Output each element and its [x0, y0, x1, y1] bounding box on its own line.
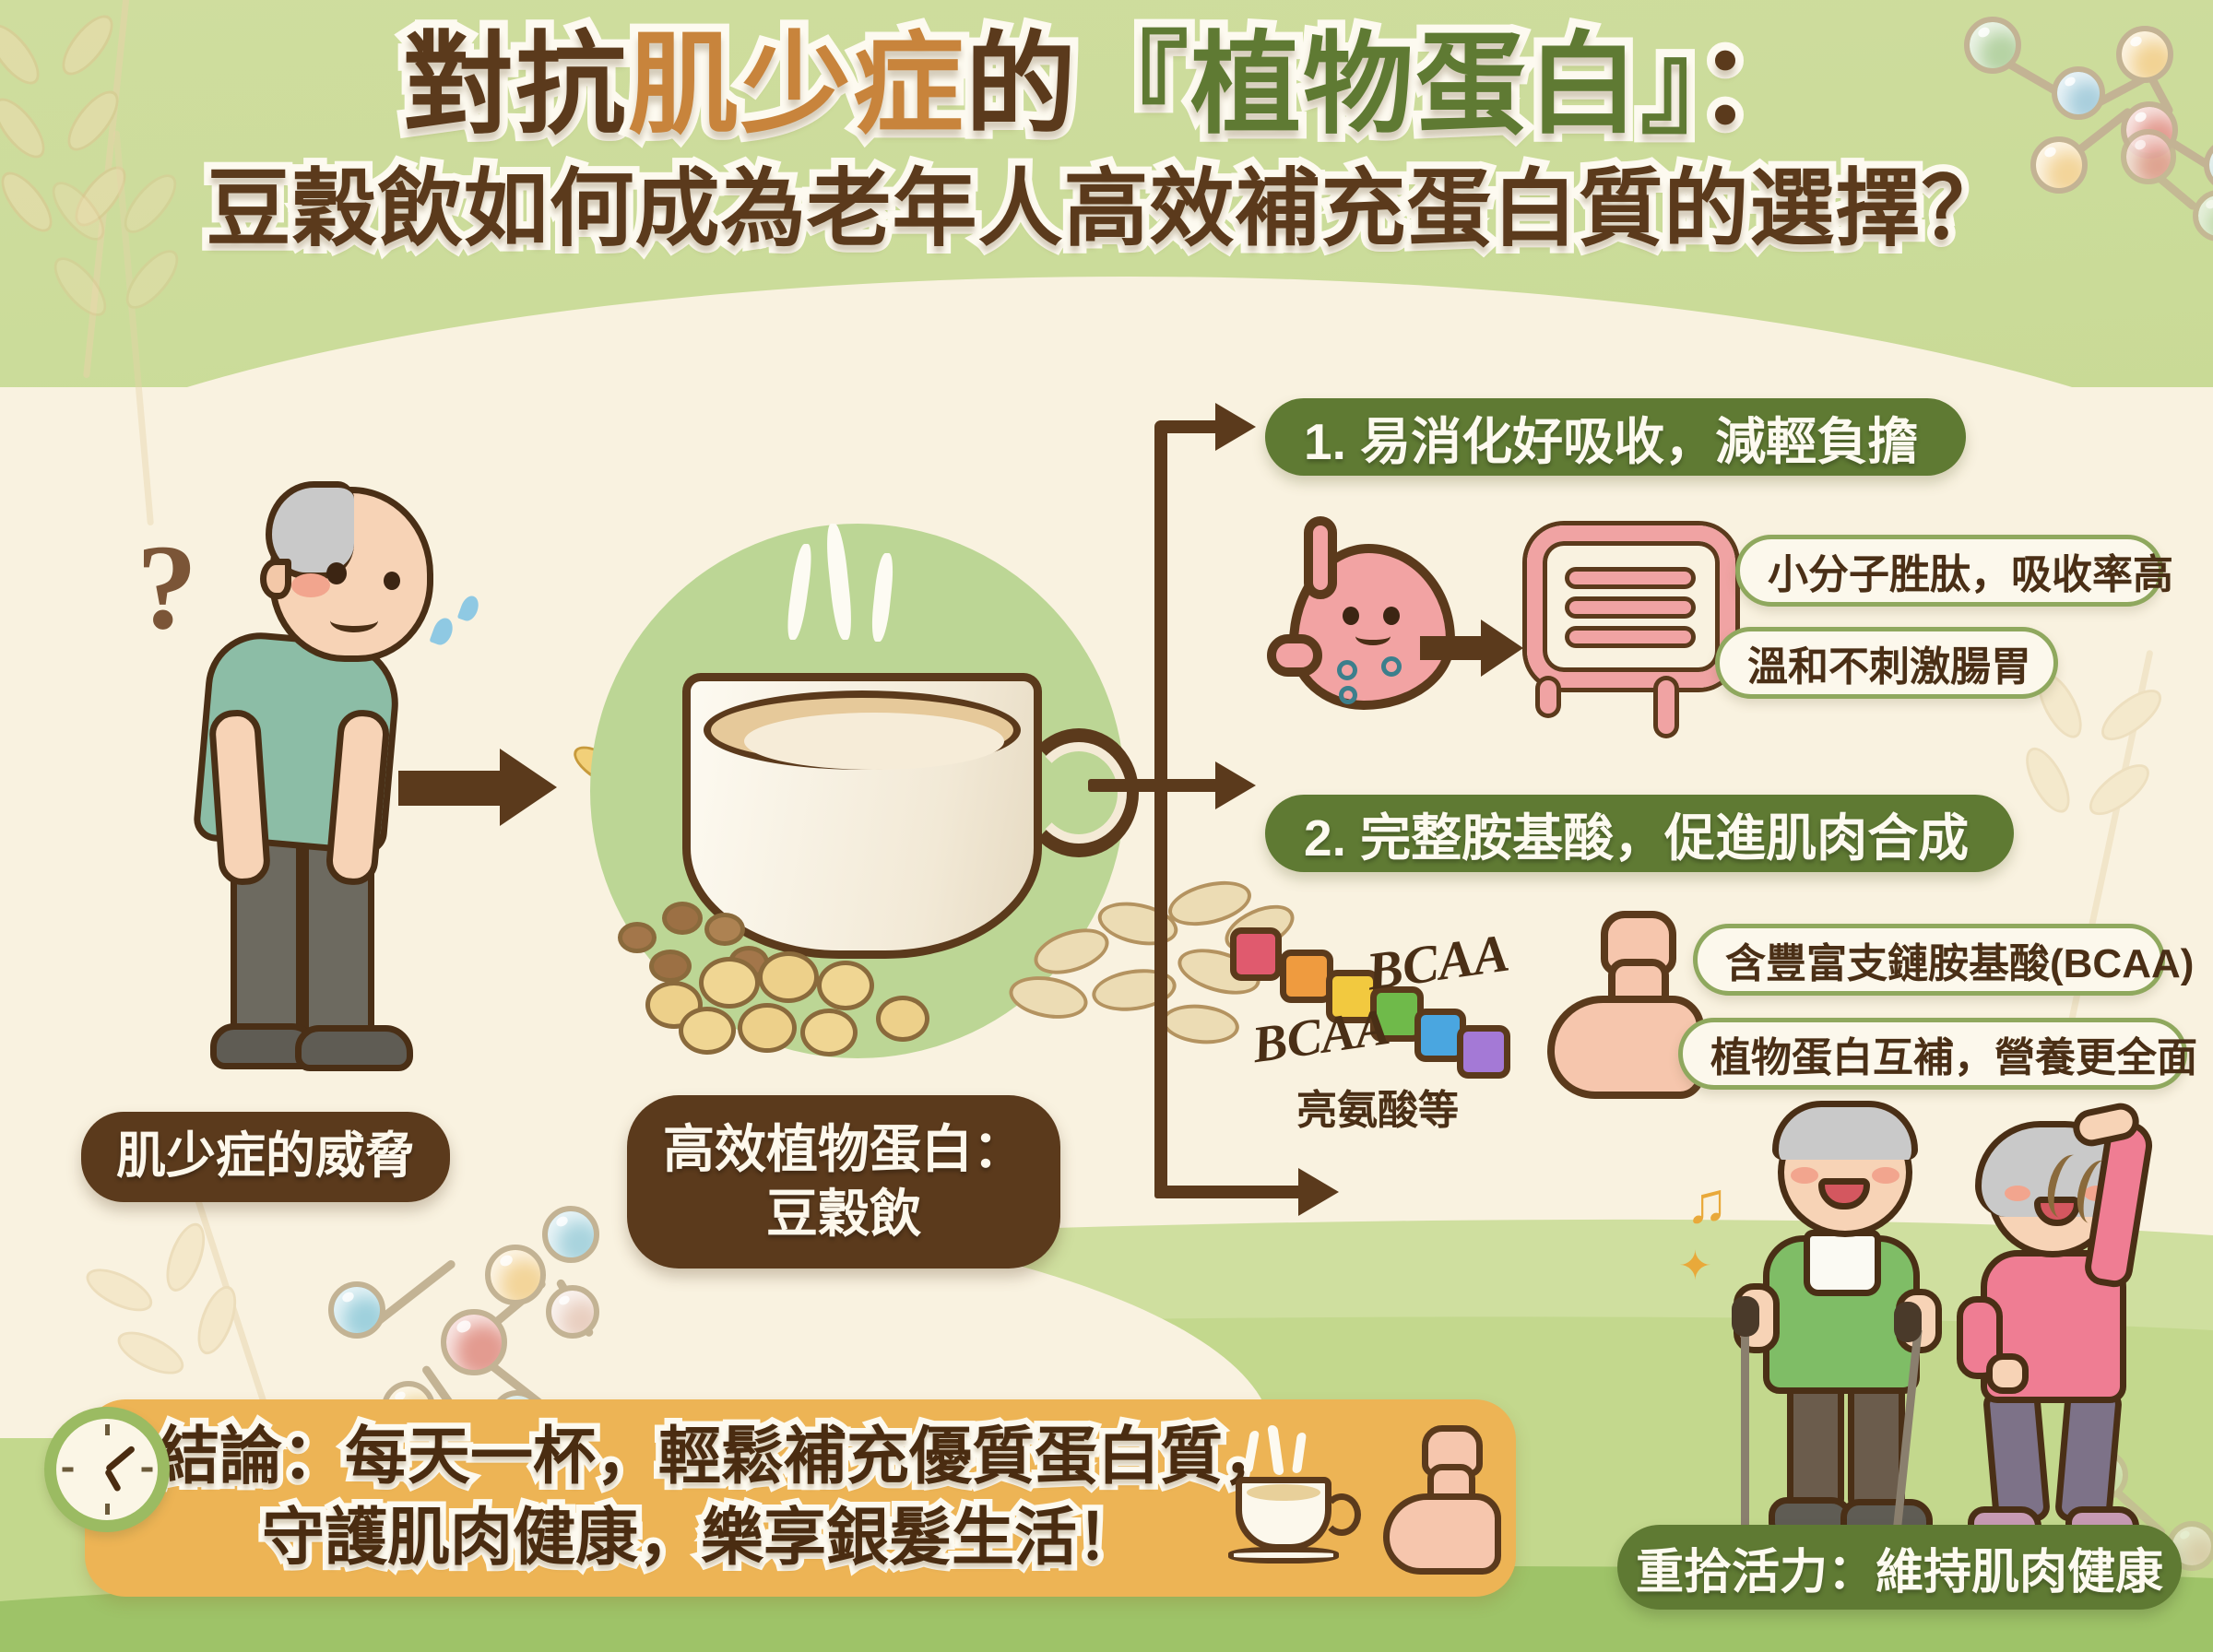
- label-plant-protein-line2: 豆穀飲: [766, 1182, 921, 1246]
- bottom-right-badge: 重拾活力：維持肌肉健康: [1617, 1525, 2182, 1610]
- title-part-3: 『植物蛋白』: [1078, 23, 1698, 147]
- arrow-man-to-cup: [398, 747, 564, 830]
- bcaa-cube-5: [1457, 1025, 1510, 1079]
- conclusion-line-2: 守護肌肉健康，樂享銀髮生活！: [157, 1497, 1245, 1578]
- woman-hand-hip: [1986, 1353, 2029, 1394]
- rectum: [1658, 680, 1675, 734]
- soybean: [817, 961, 874, 1010]
- soybean: [699, 957, 760, 1009]
- sparkle-icon: ✦: [1678, 1243, 1712, 1290]
- woman-cheek-left: [2005, 1186, 2030, 1201]
- small-intestine-coil-2: [1569, 601, 1691, 614]
- soybean: [738, 1003, 797, 1053]
- section-1-chip-1: 溫和不刺激腸胃: [1715, 627, 2058, 699]
- man2-cheek-left: [1791, 1167, 1818, 1184]
- title-block: 對抗肌少症的『植物蛋白』： 豆穀飲如何成為老年人高效補充蛋白質的選擇？: [0, 26, 2213, 257]
- sweat-drop-1: [429, 615, 456, 647]
- man2-cheek-right: [1872, 1167, 1899, 1184]
- woman-leg-left: [1982, 1386, 2051, 1526]
- arrow-stomach-to-intestine: [1420, 619, 1531, 680]
- oat-grain: [1006, 971, 1091, 1024]
- cup-liquid: [704, 690, 1021, 770]
- title-part-1: 肌少症: [628, 23, 965, 147]
- conclusion-line-1: 結論：每天一杯，輕鬆補充優質蛋白質，: [157, 1416, 1245, 1497]
- section-1-chip-0: 小分子胜肽，吸收率高: [1735, 535, 2163, 607]
- section-1-chip-0-text: 小分子胜肽，吸收率高: [1768, 541, 2173, 600]
- man2-leg-left: [1787, 1375, 1844, 1514]
- stomach-eye-right: [1383, 607, 1400, 625]
- section-1-chip-1-text: 溫和不刺激腸胃: [1747, 633, 2031, 692]
- woman-leg-right: [2054, 1386, 2123, 1526]
- connector-branch-3: [1160, 1186, 1308, 1198]
- pole-grip-left: [1732, 1296, 1759, 1337]
- section-2-heading-text: 2. 完整胺基酸，促進肌肉合成: [1304, 796, 1969, 870]
- section-2-chip-0: 含豐富支鏈胺基酸(BCAA): [1693, 924, 2165, 996]
- soybean: [876, 996, 929, 1042]
- small-intestine-coil-3: [1569, 631, 1691, 643]
- section-1-heading: 1. 易消化好吸收，減輕負擔: [1265, 398, 1966, 476]
- music-note-icon: ♫: [1686, 1171, 1729, 1236]
- intestine-illustration: [1520, 513, 1750, 743]
- label-sarcopenia-threat: 肌少症的威脅: [81, 1112, 450, 1202]
- title-part-2: 的: [965, 23, 1078, 147]
- connector-arrowhead-1: [1215, 403, 1256, 451]
- section-2-chip-0-text: 含豐富支鏈胺基酸(BCAA): [1725, 930, 2194, 989]
- soybean-pile: [645, 938, 959, 1068]
- title-part-4: ：: [1698, 23, 1810, 147]
- label-high-efficiency-plant-protein: 高效植物蛋白： 豆穀飲: [627, 1095, 1060, 1268]
- clock-icon: [44, 1407, 170, 1532]
- digestion-particle-2: [1381, 656, 1402, 677]
- sweat-drop-2: [457, 594, 481, 623]
- section-1-heading-text: 1. 易消化好吸收，減輕負擔: [1304, 400, 1918, 474]
- flexed-biceps-icon: [1368, 1425, 1516, 1582]
- connector-arrowhead-2: [1215, 761, 1256, 809]
- section-2-heading: 2. 完整胺基酸，促進肌肉合成: [1265, 795, 2014, 872]
- connector-corner-1: [1154, 420, 1167, 448]
- label-sarcopenia-threat-text: 肌少症的威脅: [116, 1126, 415, 1188]
- man-eye-right: [384, 572, 400, 590]
- soybean: [679, 1007, 736, 1055]
- infographic-canvas: 對抗肌少症的『植物蛋白』： 豆穀飲如何成為老年人高效補充蛋白質的選擇？ ? 肌少…: [0, 0, 2213, 1652]
- man-mouth: [330, 608, 378, 632]
- man-eye-left: [326, 562, 347, 584]
- title-line-2: 豆穀飲如何成為老年人高效補充蛋白質的選擇？: [0, 162, 2213, 257]
- label-plant-protein-line1: 高效植物蛋白：: [663, 1117, 1024, 1182]
- walking-pole-left: [1741, 1324, 1749, 1532]
- bottom-right-badge-text: 重拾活力：維持肌肉健康: [1636, 1533, 2163, 1602]
- cup-foam-art: [744, 713, 1004, 770]
- small-intestine-coil-1: [1569, 572, 1691, 584]
- title-line-1: 對抗肌少症的『植物蛋白』：: [0, 26, 2213, 146]
- soybean: [800, 1009, 858, 1056]
- man2-towel: [1804, 1230, 1881, 1296]
- man2-hair: [1772, 1101, 1918, 1160]
- lentil: [662, 902, 703, 935]
- connector-arrowhead-3: [1298, 1168, 1339, 1216]
- pole-grip-right: [1894, 1302, 1922, 1342]
- man-shoe-right: [295, 1025, 413, 1071]
- appendix: [1540, 680, 1556, 714]
- section-2-chip-1: 植物蛋白互補，營養更全面: [1678, 1018, 2187, 1090]
- title-part-0: 對抗: [403, 23, 628, 147]
- steaming-cup-icon: [1223, 1431, 1361, 1578]
- question-mark-icon: ?: [136, 516, 197, 657]
- conclusion-text: 結論：每天一杯，輕鬆補充優質蛋白質， 守護肌肉健康，樂享銀髮生活！: [157, 1416, 1245, 1579]
- man-cheek: [291, 573, 330, 597]
- section-2-chip-1-text: 植物蛋白互補，營養更全面: [1710, 1024, 2197, 1083]
- man-ear: [260, 559, 291, 599]
- connector-trunk: [1154, 433, 1167, 1198]
- soybean: [758, 951, 819, 1003]
